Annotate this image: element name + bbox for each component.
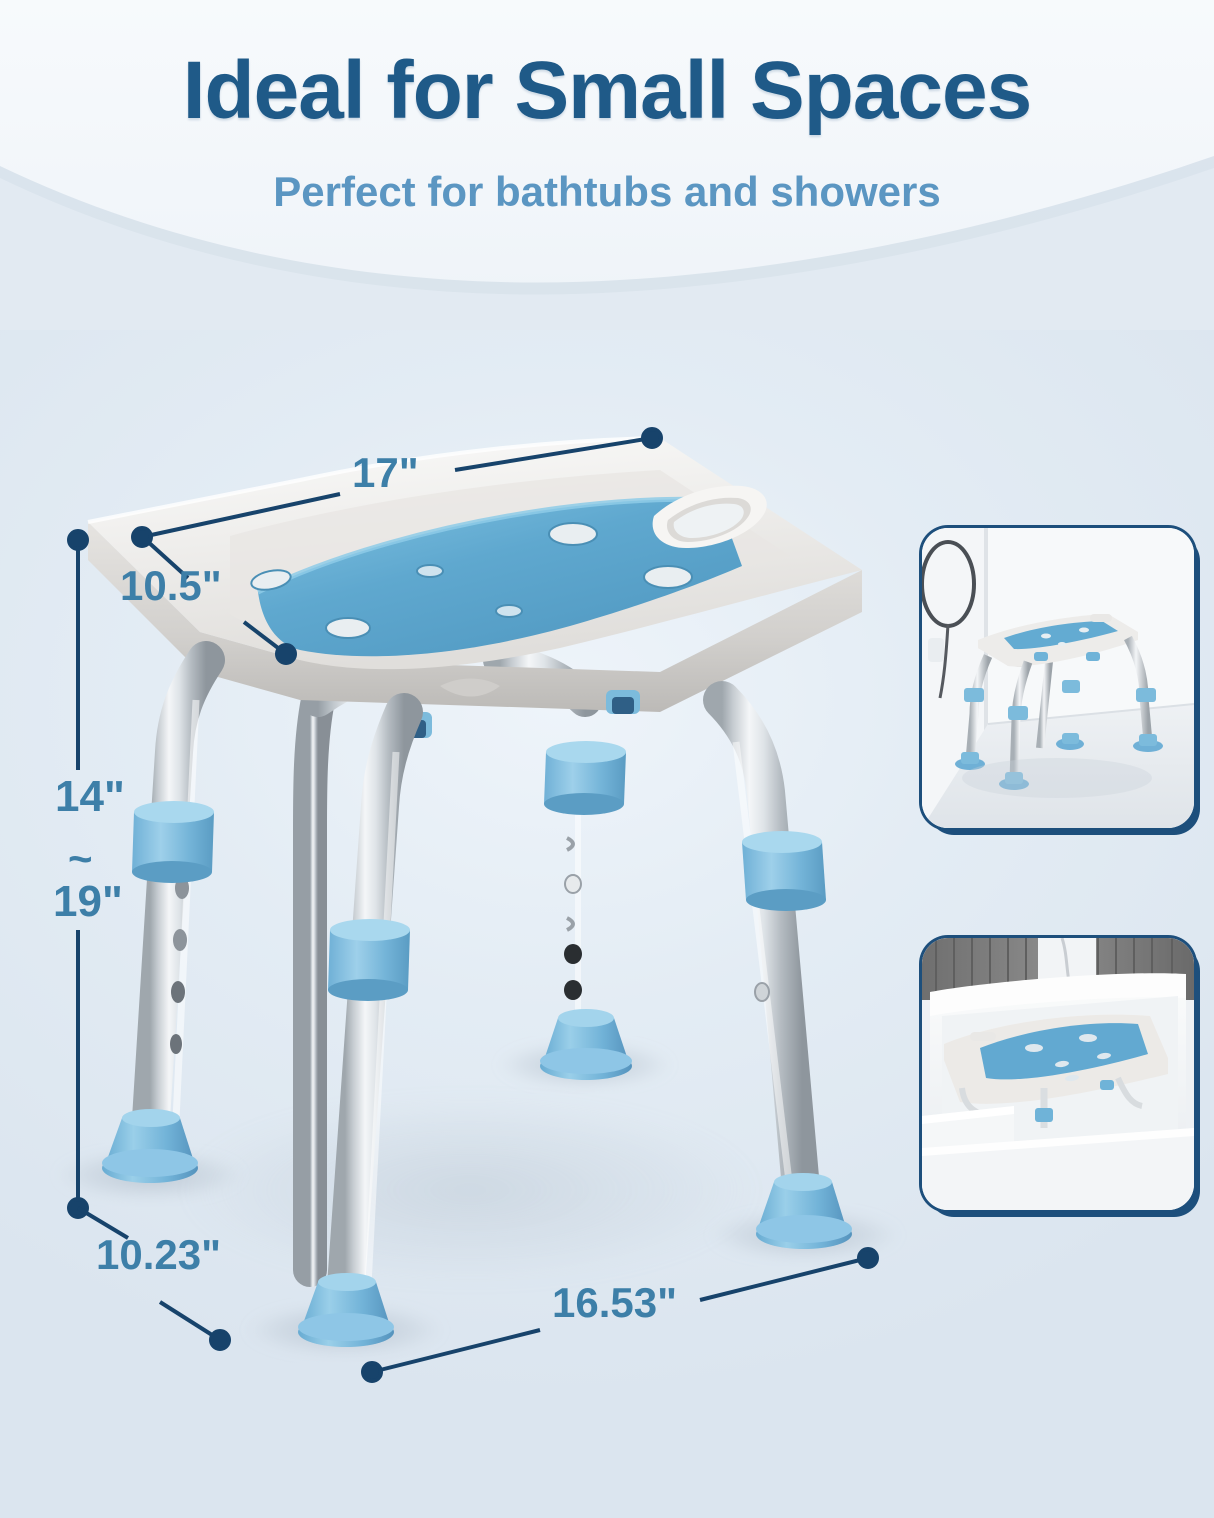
bathtub-scene-illustration [922,938,1194,1210]
dimension-label-depth-top: 10.5" [120,565,222,607]
leg-foot [756,1173,852,1249]
height-adjust-collar [328,919,410,1001]
leg-foot [102,1109,198,1183]
dimension-label-height-min: 14" [55,775,125,819]
dimension-label-range-separator: ~ [68,838,93,880]
inset-photo-shower-scene [922,528,1194,828]
dimension-label-width-base: 16.53" [552,1282,677,1324]
infographic-stage: Ideal for Small Spaces Perfect for batht… [0,0,1214,1518]
leg-foot [540,1009,632,1080]
height-adjust-collar [132,801,214,883]
height-adjust-collar [544,741,626,815]
telescoping-tube-detail [540,741,632,1080]
shower-scene-illustration [922,528,1194,828]
dimension-label-height-max: 19" [53,880,123,924]
height-adjust-collar [742,831,826,911]
dimension-label-width-top: 17" [352,452,419,494]
inset-photo-bathtub-scene [922,938,1194,1210]
dimension-label-depth-base: 10.23" [96,1234,221,1276]
